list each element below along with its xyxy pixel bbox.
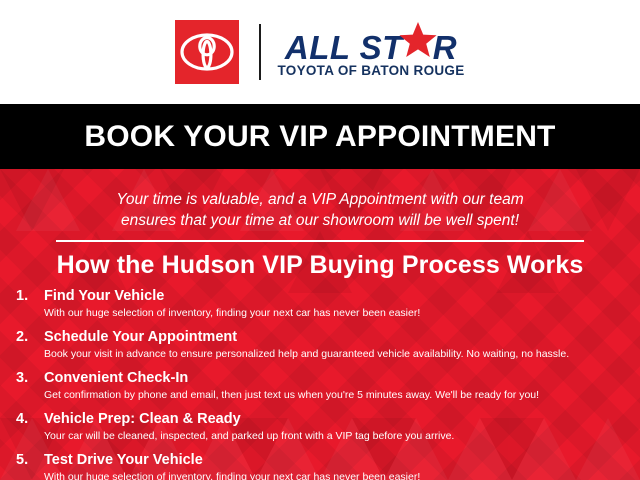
step-body: Schedule Your Appointment Book your visi… bbox=[44, 329, 640, 361]
step-number: 4. bbox=[16, 411, 44, 428]
header-band: ALL ST R TOYOTA OF BATON ROUGE bbox=[0, 0, 640, 104]
allstar-wordmark: ALL ST R bbox=[285, 26, 457, 60]
step-description: Your car will be cleaned, inspected, and… bbox=[44, 429, 640, 443]
step-title: Schedule Your Appointment bbox=[44, 329, 640, 346]
tagline-line-2: ensures that your time at our showroom w… bbox=[0, 210, 640, 231]
list-item: 5. Test Drive Your Vehicle With our huge… bbox=[0, 452, 640, 480]
content-band: Your time is valuable, and a VIP Appoint… bbox=[0, 169, 640, 480]
headline-title: BOOK YOUR VIP APPOINTMENT bbox=[84, 120, 555, 154]
step-number: 2. bbox=[16, 329, 44, 346]
step-description: With our huge selection of inventory, fi… bbox=[44, 306, 640, 320]
step-title: Test Drive Your Vehicle bbox=[44, 452, 640, 469]
toyota-emblem-icon bbox=[175, 20, 239, 84]
step-body: Convenient Check-In Get confirmation by … bbox=[44, 370, 640, 402]
list-item: 4. Vehicle Prep: Clean & Ready Your car … bbox=[0, 411, 640, 443]
tagline-line-1: Your time is valuable, and a VIP Appoint… bbox=[116, 191, 523, 208]
tagline: Your time is valuable, and a VIP Appoint… bbox=[0, 189, 640, 231]
list-item: 1. Find Your Vehicle With our huge selec… bbox=[0, 288, 640, 320]
promo-page: ALL ST R TOYOTA OF BATON ROUGE BOOK YOUR… bbox=[0, 0, 640, 480]
logo-divider bbox=[259, 24, 261, 80]
headline-banner: BOOK YOUR VIP APPOINTMENT bbox=[0, 104, 640, 169]
list-item: 2. Schedule Your Appointment Book your v… bbox=[0, 329, 640, 361]
step-number: 1. bbox=[16, 288, 44, 305]
allstar-wordmark-block: ALL ST R TOYOTA OF BATON ROUGE bbox=[277, 26, 464, 78]
step-body: Vehicle Prep: Clean & Ready Your car wil… bbox=[44, 411, 640, 443]
step-body: Find Your Vehicle With our huge selectio… bbox=[44, 288, 640, 320]
step-number: 3. bbox=[16, 370, 44, 387]
step-description: Get confirmation by phone and email, the… bbox=[44, 388, 640, 402]
list-item: 3. Convenient Check-In Get confirmation … bbox=[0, 370, 640, 402]
step-title: Convenient Check-In bbox=[44, 370, 640, 387]
allstar-text-left: ALL ST bbox=[285, 31, 403, 64]
step-body: Test Drive Your Vehicle With our huge se… bbox=[44, 452, 640, 480]
section-heading: How the Hudson VIP Buying Process Works bbox=[0, 251, 640, 280]
step-number: 5. bbox=[16, 452, 44, 469]
step-description: Book your visit in advance to ensure per… bbox=[44, 347, 640, 361]
step-description: With our huge selection of inventory, fi… bbox=[44, 470, 640, 480]
step-title: Find Your Vehicle bbox=[44, 288, 640, 305]
step-title: Vehicle Prep: Clean & Ready bbox=[44, 411, 640, 428]
star-icon bbox=[403, 26, 433, 59]
dealership-logo[interactable]: ALL ST R TOYOTA OF BATON ROUGE bbox=[175, 20, 464, 84]
dealership-subtitle: TOYOTA OF BATON ROUGE bbox=[277, 64, 464, 78]
horizontal-divider bbox=[56, 240, 584, 242]
process-steps-list: 1. Find Your Vehicle With our huge selec… bbox=[0, 288, 640, 480]
